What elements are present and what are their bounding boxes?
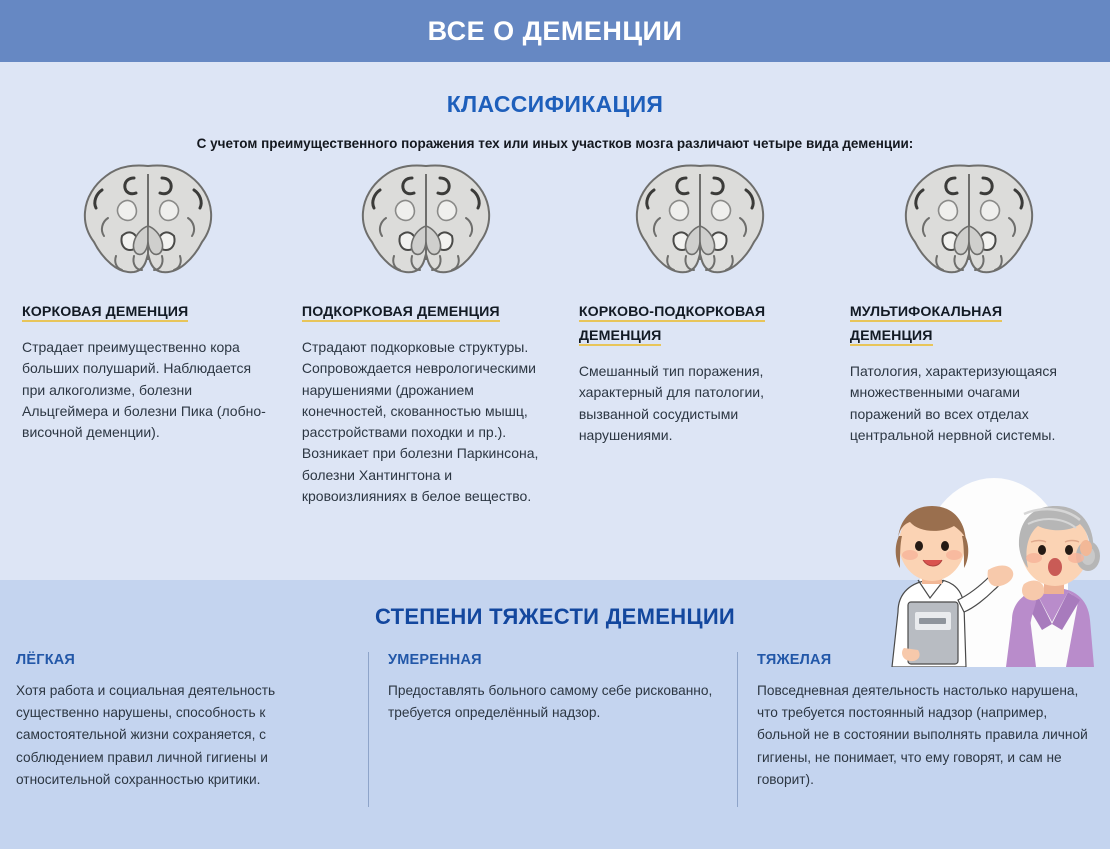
classification-card-multifocal: МУЛЬТИФОКАЛЬНАЯ ДЕМЕНЦИЯ Патология, хара… (836, 158, 1102, 507)
card-heading: КОРКОВО-ПОДКОРКОВАЯ ДЕМЕНЦИЯ (579, 304, 765, 346)
card-heading: ПОДКОРКОВАЯ ДЕМЕНЦИЯ (302, 304, 500, 322)
classification-card-cortical: КОРКОВАЯ ДЕМЕНЦИЯ Страдает преимуществен… (8, 158, 288, 507)
severity-heading: УМЕРЕННАЯ (388, 652, 721, 668)
severity-row: ЛЁГКАЯ Хотя работа и социальная деятельн… (0, 652, 1110, 791)
card-heading: МУЛЬТИФОКАЛЬНАЯ ДЕМЕНЦИЯ (850, 304, 1002, 346)
severity-heading: ТЯЖЕЛАЯ (757, 652, 1094, 668)
classification-section: КЛАССИФИКАЦИЯ С учетом преимущественного… (0, 62, 1110, 580)
card-body: Патология, характеризующаяся множественн… (850, 361, 1088, 446)
classification-card-cortical-subcortical: КОРКОВО-ПОДКОРКОВАЯ ДЕМЕНЦИЯ Смешанный т… (565, 158, 836, 507)
severity-body: Предоставлять больного самому себе риско… (388, 680, 721, 724)
classification-cards-row: КОРКОВАЯ ДЕМЕНЦИЯ Страдает преимуществен… (0, 158, 1110, 507)
card-body: Смешанный тип поражения, характерный для… (579, 361, 822, 446)
card-heading: КОРКОВАЯ ДЕМЕНЦИЯ (22, 304, 188, 322)
card-heading-wrap: КОРКОВАЯ ДЕМЕНЦИЯ (22, 300, 274, 324)
severity-level-severe: ТЯЖЕЛАЯ Повседневная деятельность настол… (737, 652, 1110, 791)
classification-subtitle: С учетом преимущественного поражения тех… (0, 136, 1110, 151)
brain-coronal-section-icon (22, 158, 274, 286)
classification-title: КЛАССИФИКАЦИЯ (0, 91, 1110, 118)
severity-section: СТЕПЕНИ ТЯЖЕСТИ ДЕМЕНЦИИ ЛЁГКАЯ Хотя раб… (0, 580, 1110, 849)
classification-card-subcortical: ПОДКОРКОВАЯ ДЕМЕНЦИЯ Страдают подкорковы… (288, 158, 565, 507)
severity-divider (368, 652, 369, 807)
severity-level-moderate: УМЕРЕННАЯ Предоставлять больного самому … (368, 652, 737, 791)
brain-coronal-section-icon (579, 158, 822, 286)
severity-body: Повседневная деятельность настолько нару… (757, 680, 1094, 791)
brain-coronal-section-icon (302, 158, 551, 286)
severity-divider (737, 652, 738, 807)
card-heading-wrap: ПОДКОРКОВАЯ ДЕМЕНЦИЯ (302, 300, 551, 324)
brain-coronal-section-icon (850, 158, 1088, 286)
severity-level-mild: ЛЁГКАЯ Хотя работа и социальная деятельн… (0, 652, 368, 791)
header-band: ВСЕ О ДЕМЕНЦИИ (0, 0, 1110, 62)
page-title: ВСЕ О ДЕМЕНЦИИ (428, 18, 683, 45)
severity-heading: ЛЁГКАЯ (16, 652, 352, 668)
severity-body: Хотя работа и социальная деятельность су… (16, 680, 352, 791)
severity-title: СТЕПЕНИ ТЯЖЕСТИ ДЕМЕНЦИИ (0, 580, 1110, 630)
card-heading-wrap: МУЛЬТИФОКАЛЬНАЯ ДЕМЕНЦИЯ (850, 300, 1088, 348)
card-body: Страдает преимущественно кора больших по… (22, 337, 274, 443)
infographic-poster: ВСЕ О ДЕМЕНЦИИ КЛАССИФИКАЦИЯ С учетом пр… (0, 0, 1110, 849)
card-heading-wrap: КОРКОВО-ПОДКОРКОВАЯ ДЕМЕНЦИЯ (579, 300, 822, 348)
card-body: Страдают подкорковые структуры. Сопровож… (302, 337, 551, 507)
